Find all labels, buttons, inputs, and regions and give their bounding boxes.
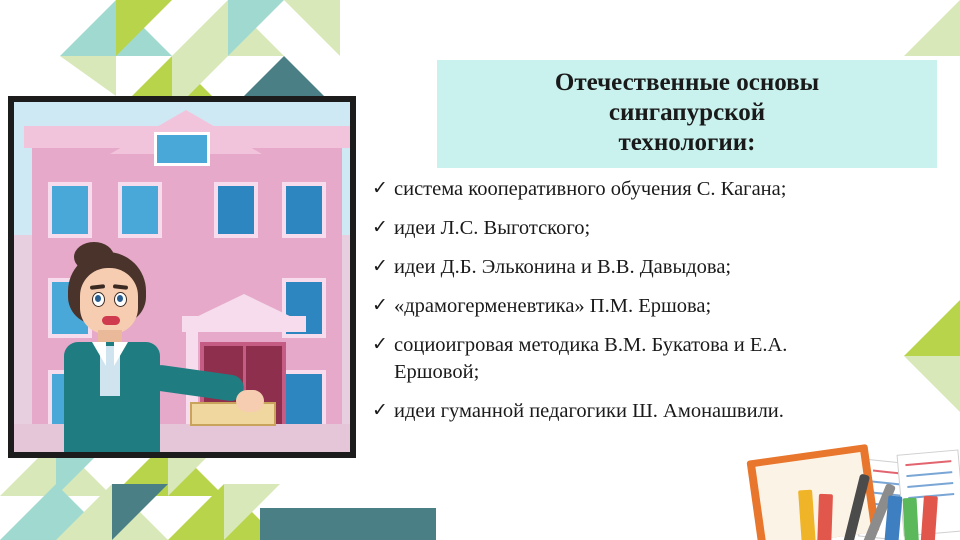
deco-triangle [56,484,168,540]
teacher-hand [236,390,264,412]
list-item: ✓ идеи гуманной педагогики Ш. Амонашвили… [372,398,952,425]
deco-triangle [60,0,172,56]
crayon [817,494,833,540]
slide-title-box: Отечественные основы сингапурской технол… [437,60,937,168]
teacher-school-illustration [14,102,350,452]
check-icon: ✓ [372,332,394,357]
bullet-list: ✓ система кооперативного обучения С. Каг… [372,176,952,437]
teacher-pupil [117,295,123,302]
held-book [190,402,276,426]
deco-triangle [228,0,284,56]
check-icon: ✓ [372,254,394,279]
list-item-text: идеи Л.С. Выготского; [394,215,590,242]
teacher-pupil [95,295,101,302]
window [214,182,258,238]
list-item-text: идеи Д.Б. Эльконина и В.В. Давыдова; [394,254,731,281]
paper-rule [906,471,952,477]
attic-window [154,132,210,166]
check-icon: ✓ [372,215,394,240]
deco-bottom-bar [260,508,436,540]
deco-triangle [112,484,168,540]
crayon [920,496,938,540]
list-item: ✓ «драмогерменевтика» П.М. Ершова; [372,293,952,320]
check-icon: ✓ [372,398,394,423]
list-item: ✓ идеи Л.С. Выготского; [372,215,952,242]
teacher-collar [92,342,106,366]
window [282,370,326,428]
illustration-frame [8,96,356,458]
window [48,182,92,238]
teacher-collar [114,342,128,366]
list-item: ✓ идеи Д.Б. Эльконина и В.В. Давыдова; [372,254,952,281]
deco-triangle [60,56,116,96]
check-icon: ✓ [372,293,394,318]
list-item: ✓ система кооперативного обучения С. Каг… [372,176,952,203]
list-item-text: «драмогерменевтика» П.М. Ершова; [394,293,711,320]
slide: Отечественные основы сингапурской технол… [0,0,960,540]
deco-triangle [904,0,960,56]
teacher-lips [102,316,120,325]
slide-title-line-3: технологии: [447,128,927,158]
crayon [903,498,920,540]
deco-triangle [116,0,172,56]
window [282,182,326,238]
list-item-text: социоигровая методика В.М. Букатова и Е.… [394,332,846,386]
deco-triangle [172,0,284,56]
paper-rule [907,482,953,488]
porch-ledge [182,316,306,332]
deco-triangle [284,0,340,56]
deco-triangle [0,484,112,540]
slide-title-line-2: сингапурской [447,98,927,128]
window [118,182,162,238]
check-icon: ✓ [372,176,394,201]
paper-rule [905,460,951,466]
list-item-text: идеи гуманной педагогики Ш. Амонашвили. [394,398,784,425]
list-item-text: система кооперативного обучения С. Каган… [394,176,786,203]
list-item: ✓ социоигровая методика В.М. Букатова и … [372,332,952,386]
slide-title-line-1: Отечественные основы [447,68,927,98]
